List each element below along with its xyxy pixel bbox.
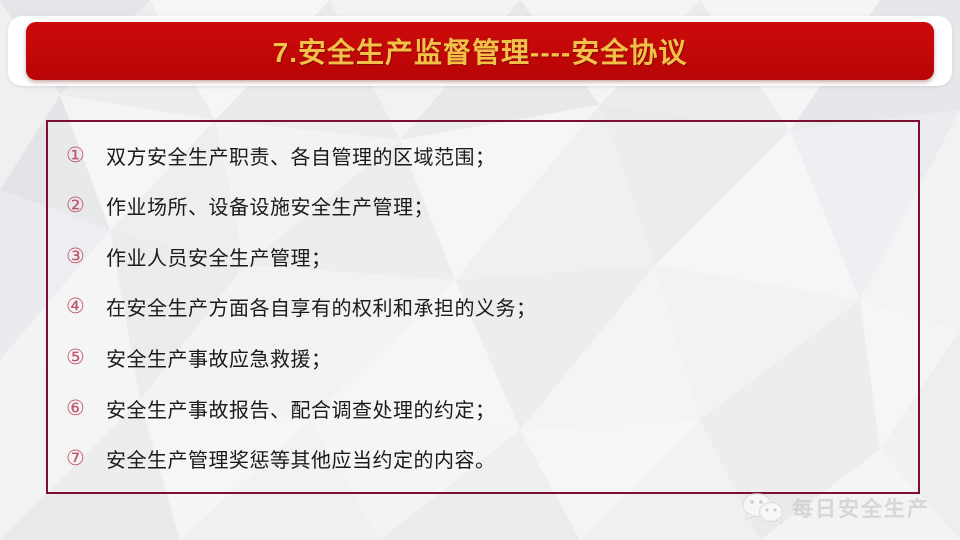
list-item: ⑥ 安全生产事故报告、配合调查处理的约定； (62, 390, 908, 426)
list-item: ⑦ 安全生产管理奖惩等其他应当约定的内容。 (62, 441, 908, 477)
list-item: ③ 作业人员安全生产管理； (62, 238, 908, 274)
slide-canvas: 7.安全生产监督管理----安全协议 ① 双方安全生产职责、各自管理的区域范围；… (0, 0, 960, 540)
wechat-icon (742, 492, 784, 524)
list-item-text: 安全生产事故应急救援； (106, 343, 908, 372)
list-item-marker: ⑥ (62, 398, 106, 419)
title-bar-container: 7.安全生产监督管理----安全协议 (8, 16, 952, 86)
watermark: 每日安全生产 (742, 486, 952, 530)
list-item: ④ 在安全生产方面各自享有的权利和承担的义务； (62, 289, 908, 325)
list-item-text: 作业场所、设备设施安全生产管理； (106, 191, 908, 220)
list-item-text: 在安全生产方面各自享有的权利和承担的义务； (106, 292, 908, 321)
watermark-text: 每日安全生产 (792, 493, 930, 523)
list-item-marker: ① (62, 145, 106, 166)
list-item-marker: ⑦ (62, 448, 106, 469)
numbered-list: ① 双方安全生产职责、各自管理的区域范围； ② 作业场所、设备设施安全生产管理；… (62, 130, 908, 484)
list-item-text: 作业人员安全生产管理； (106, 242, 908, 271)
content-panel: ① 双方安全生产职责、各自管理的区域范围； ② 作业场所、设备设施安全生产管理；… (46, 120, 920, 494)
list-item: ① 双方安全生产职责、各自管理的区域范围； (62, 137, 908, 173)
list-item: ⑤ 安全生产事故应急救援； (62, 340, 908, 376)
list-item-marker: ⑤ (62, 347, 106, 368)
title-bar: 7.安全生产监督管理----安全协议 (26, 22, 934, 80)
page-title: 7.安全生产监督管理----安全协议 (273, 31, 688, 71)
list-item-text: 安全生产事故报告、配合调查处理的约定； (106, 394, 908, 423)
list-item-marker: ③ (62, 246, 106, 267)
list-item: ② 作业场所、设备设施安全生产管理； (62, 188, 908, 224)
list-item-text: 双方安全生产职责、各自管理的区域范围； (106, 141, 908, 170)
list-item-marker: ② (62, 195, 106, 216)
list-item-text: 安全生产管理奖惩等其他应当约定的内容。 (106, 444, 908, 473)
list-item-marker: ④ (62, 296, 106, 317)
